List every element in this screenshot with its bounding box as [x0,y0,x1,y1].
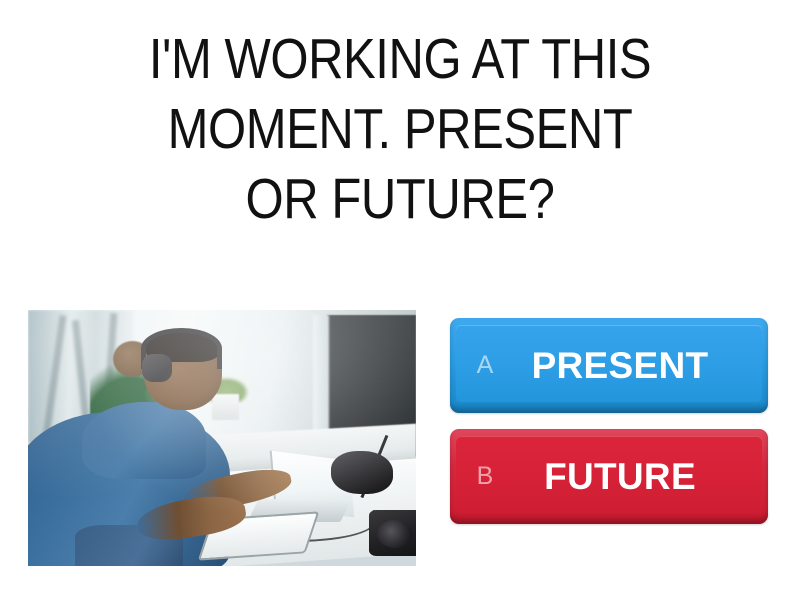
answer-option-a[interactable]: A PRESENT [450,318,768,413]
desk-lamp-head [331,451,393,495]
camera-lens [377,520,412,548]
answer-letter-b: B [468,462,502,491]
man-shoulder [82,402,206,479]
plant-pot [212,394,239,420]
headphones-earcup-icon [142,354,171,382]
answer-label-a: PRESENT [502,345,754,387]
quiz-slide: I'M WORKING AT THIS MOMENT. PRESENT OR F… [0,0,800,600]
answer-letter-a: A [468,351,502,380]
answer-options: A PRESENT B FUTURE [450,318,768,524]
answer-label-b: FUTURE [502,456,754,498]
photo-scene [28,310,416,566]
question-text: I'M WORKING AT THIS MOMENT. PRESENT OR F… [70,24,730,234]
answer-option-b[interactable]: B FUTURE [450,429,768,524]
question-image [28,310,416,566]
